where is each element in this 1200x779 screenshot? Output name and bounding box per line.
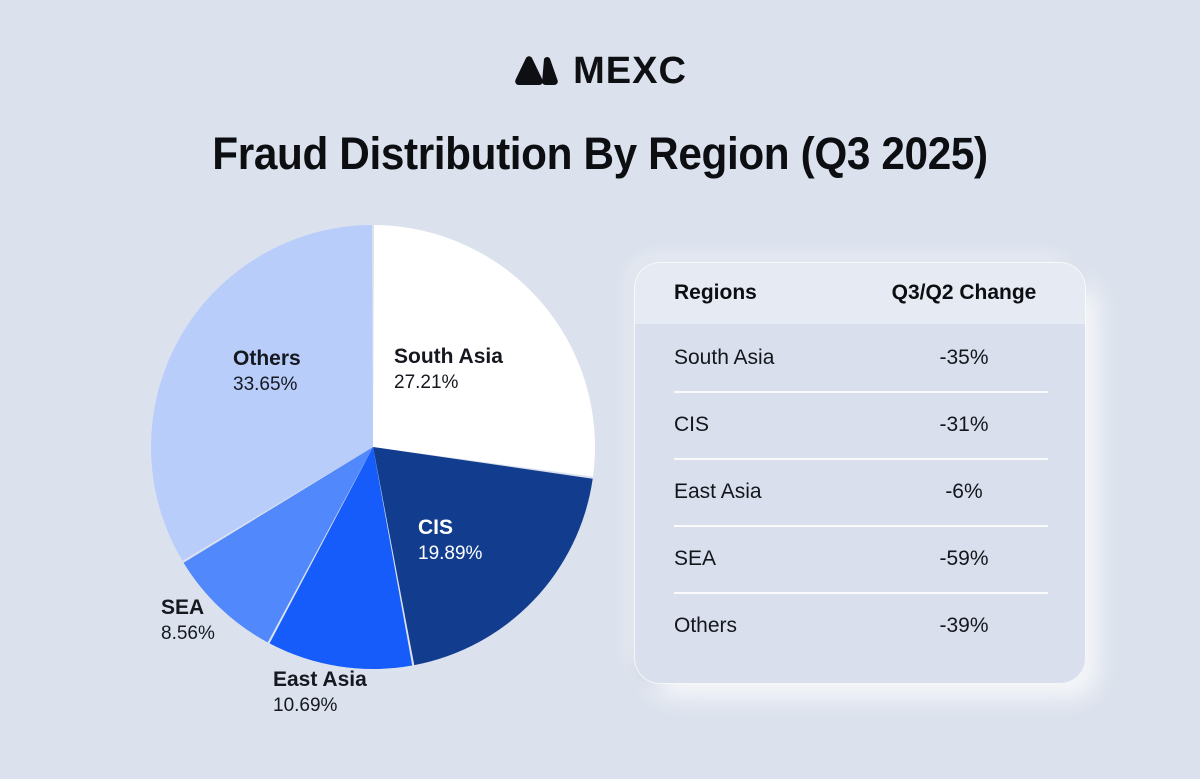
table-cell-region: Others xyxy=(674,614,886,638)
table-cell-change: -31% xyxy=(886,413,1048,437)
brand-name: MEXC xyxy=(573,52,687,90)
pie-chart: South Asia 27.21% Others 33.65% CIS 19.8… xyxy=(148,222,598,722)
pie-label-cis-value: 19.89% xyxy=(418,542,482,566)
pie-label-south-asia-name: South Asia xyxy=(394,344,503,371)
table-cell-change: -6% xyxy=(886,480,1048,504)
table-body: South Asia-35%CIS-31%East Asia-6%SEA-59%… xyxy=(634,324,1086,659)
pie-label-sea-name: SEA xyxy=(161,595,215,622)
pie-label-east-asia-name: East Asia xyxy=(273,667,367,694)
table-header-change: Q3/Q2 Change xyxy=(886,281,1048,305)
table-cell-change: -35% xyxy=(886,346,1048,370)
mexc-triangles-icon xyxy=(513,55,559,87)
page-title: Fraud Distribution By Region (Q3 2025) xyxy=(36,128,1164,180)
pie-label-east-asia-value: 10.69% xyxy=(273,694,367,718)
pie-label-east-asia: East Asia 10.69% xyxy=(273,667,367,718)
pie-label-south-asia-value: 27.21% xyxy=(394,371,503,395)
table-row: South Asia-35% xyxy=(634,324,1086,391)
brand-logo: MEXC xyxy=(0,52,1200,90)
pie-label-sea: SEA 8.56% xyxy=(161,595,215,646)
table-cell-region: CIS xyxy=(674,413,886,437)
pie-label-others-name: Others xyxy=(233,346,301,373)
table-row: East Asia-6% xyxy=(634,458,1086,525)
pie-label-cis: CIS 19.89% xyxy=(418,515,482,566)
table-cell-region: East Asia xyxy=(674,480,886,504)
pie-label-south-asia: South Asia 27.21% xyxy=(394,344,503,395)
regions-table-card: Regions Q3/Q2 Change South Asia-35%CIS-3… xyxy=(634,262,1086,684)
pie-label-cis-name: CIS xyxy=(418,515,482,542)
pie-chart-svg xyxy=(148,222,598,672)
table-cell-region: South Asia xyxy=(674,346,886,370)
table-header-regions: Regions xyxy=(674,281,886,305)
pie-label-others: Others 33.65% xyxy=(233,346,301,397)
table-cell-region: SEA xyxy=(674,547,886,571)
table-cell-change: -59% xyxy=(886,547,1048,571)
table-row: Others-39% xyxy=(634,592,1086,659)
pie-label-sea-value: 8.56% xyxy=(161,622,215,646)
table-header-row: Regions Q3/Q2 Change xyxy=(634,262,1086,324)
table-row: CIS-31% xyxy=(634,391,1086,458)
pie-label-others-value: 33.65% xyxy=(233,373,301,397)
table-cell-change: -39% xyxy=(886,614,1048,638)
table-row: SEA-59% xyxy=(634,525,1086,592)
